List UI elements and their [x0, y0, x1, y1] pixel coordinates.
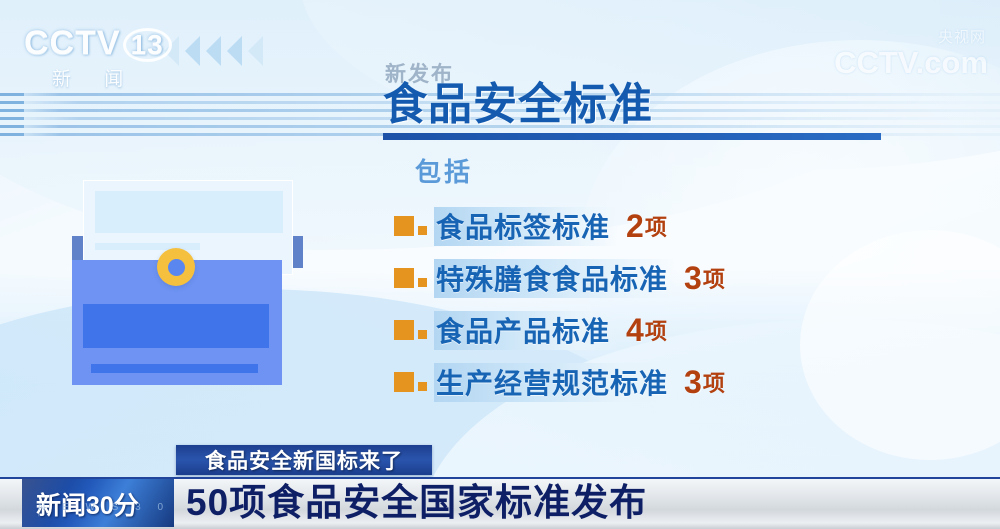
- title-underline: [383, 133, 881, 140]
- list-item-count: 4: [626, 312, 644, 349]
- list-item-label-highlight: 食品标签标准: [434, 204, 618, 249]
- list-item-count: 2: [626, 208, 644, 245]
- list-item-label-highlight: 生产经营规范标准: [434, 360, 676, 405]
- envelope-clasp-icon: [157, 248, 195, 286]
- program-logo-en: N E W S 3 0 ': [38, 502, 174, 524]
- list-item-unit: 项: [703, 366, 725, 398]
- chevron-decoration: [164, 36, 263, 66]
- chevron-left-icon: [248, 36, 263, 66]
- chevron-left-icon: [227, 36, 242, 66]
- watermark-en-label: CCTV.com: [834, 47, 988, 78]
- lower-sub-banner-text: 食品安全新国标来了: [205, 445, 403, 475]
- list-item-label: 食品标签标准: [436, 212, 610, 243]
- envelope-line: [91, 364, 258, 373]
- list-item-unit: 项: [645, 314, 667, 346]
- list-item-label: 特殊膳食食品标准: [436, 264, 668, 295]
- envelope-document-icon: [65, 180, 310, 440]
- list-item-label-highlight: 特殊膳食食品标准: [434, 256, 676, 301]
- list-item-label-highlight: 食品产品标准: [434, 308, 618, 353]
- cctv-logo-number: 13: [123, 28, 172, 62]
- standards-list: 食品标签标准 2 项 特殊膳食食品标准 3 项 食品产品标准 4 项: [394, 200, 994, 408]
- list-item-unit: 项: [645, 210, 667, 242]
- list-item: 食品产品标准 4 项: [394, 304, 994, 356]
- square-bullet-icon: [394, 268, 427, 288]
- bottom-headline: 50项食品安全国家标准发布: [186, 481, 647, 525]
- stripe-decoration-left: [0, 93, 24, 141]
- list-item-unit: 项: [703, 262, 725, 294]
- list-item: 生产经营规范标准 3 项: [394, 356, 994, 408]
- cctv-logo-text: CCTV: [24, 24, 121, 62]
- square-bullet-icon: [394, 216, 427, 236]
- cctv-watermark: 央视网 CCTV.com: [834, 30, 988, 78]
- title-subtitle: 包括: [415, 152, 473, 189]
- list-item: 特殊膳食食品标准 3 项: [394, 252, 994, 304]
- bottom-news-bar: 新闻30分 N E W S 3 0 ' 50项食品安全国家标准发布: [0, 477, 1000, 529]
- program-logo: 新闻30分 N E W S 3 0 ': [22, 479, 174, 527]
- chevron-left-icon: [206, 36, 221, 66]
- envelope-band: [83, 304, 269, 348]
- page-title: 食品安全标准: [383, 82, 653, 128]
- broadcast-screen: CCTV13 新 闻 央视网 CCTV.com 新发布 食品安全标准 包括 食品…: [0, 0, 1000, 529]
- list-item: 食品标签标准 2 项: [394, 200, 994, 252]
- chevron-left-icon: [185, 36, 200, 66]
- square-bullet-icon: [394, 372, 427, 392]
- cctv13-logo-subtitle: 新 闻: [52, 64, 137, 91]
- list-item-count: 3: [684, 260, 702, 297]
- document-bar-strip: [95, 191, 283, 233]
- list-item-label: 生产经营规范标准: [436, 368, 668, 399]
- list-item-count: 3: [684, 364, 702, 401]
- cctv13-logo: CCTV13: [24, 26, 172, 62]
- lower-sub-banner: 食品安全新国标来了: [176, 445, 432, 475]
- watermark-cn-label: 央视网: [834, 30, 986, 45]
- square-bullet-icon: [394, 320, 427, 340]
- list-item-label: 食品产品标准: [436, 316, 610, 347]
